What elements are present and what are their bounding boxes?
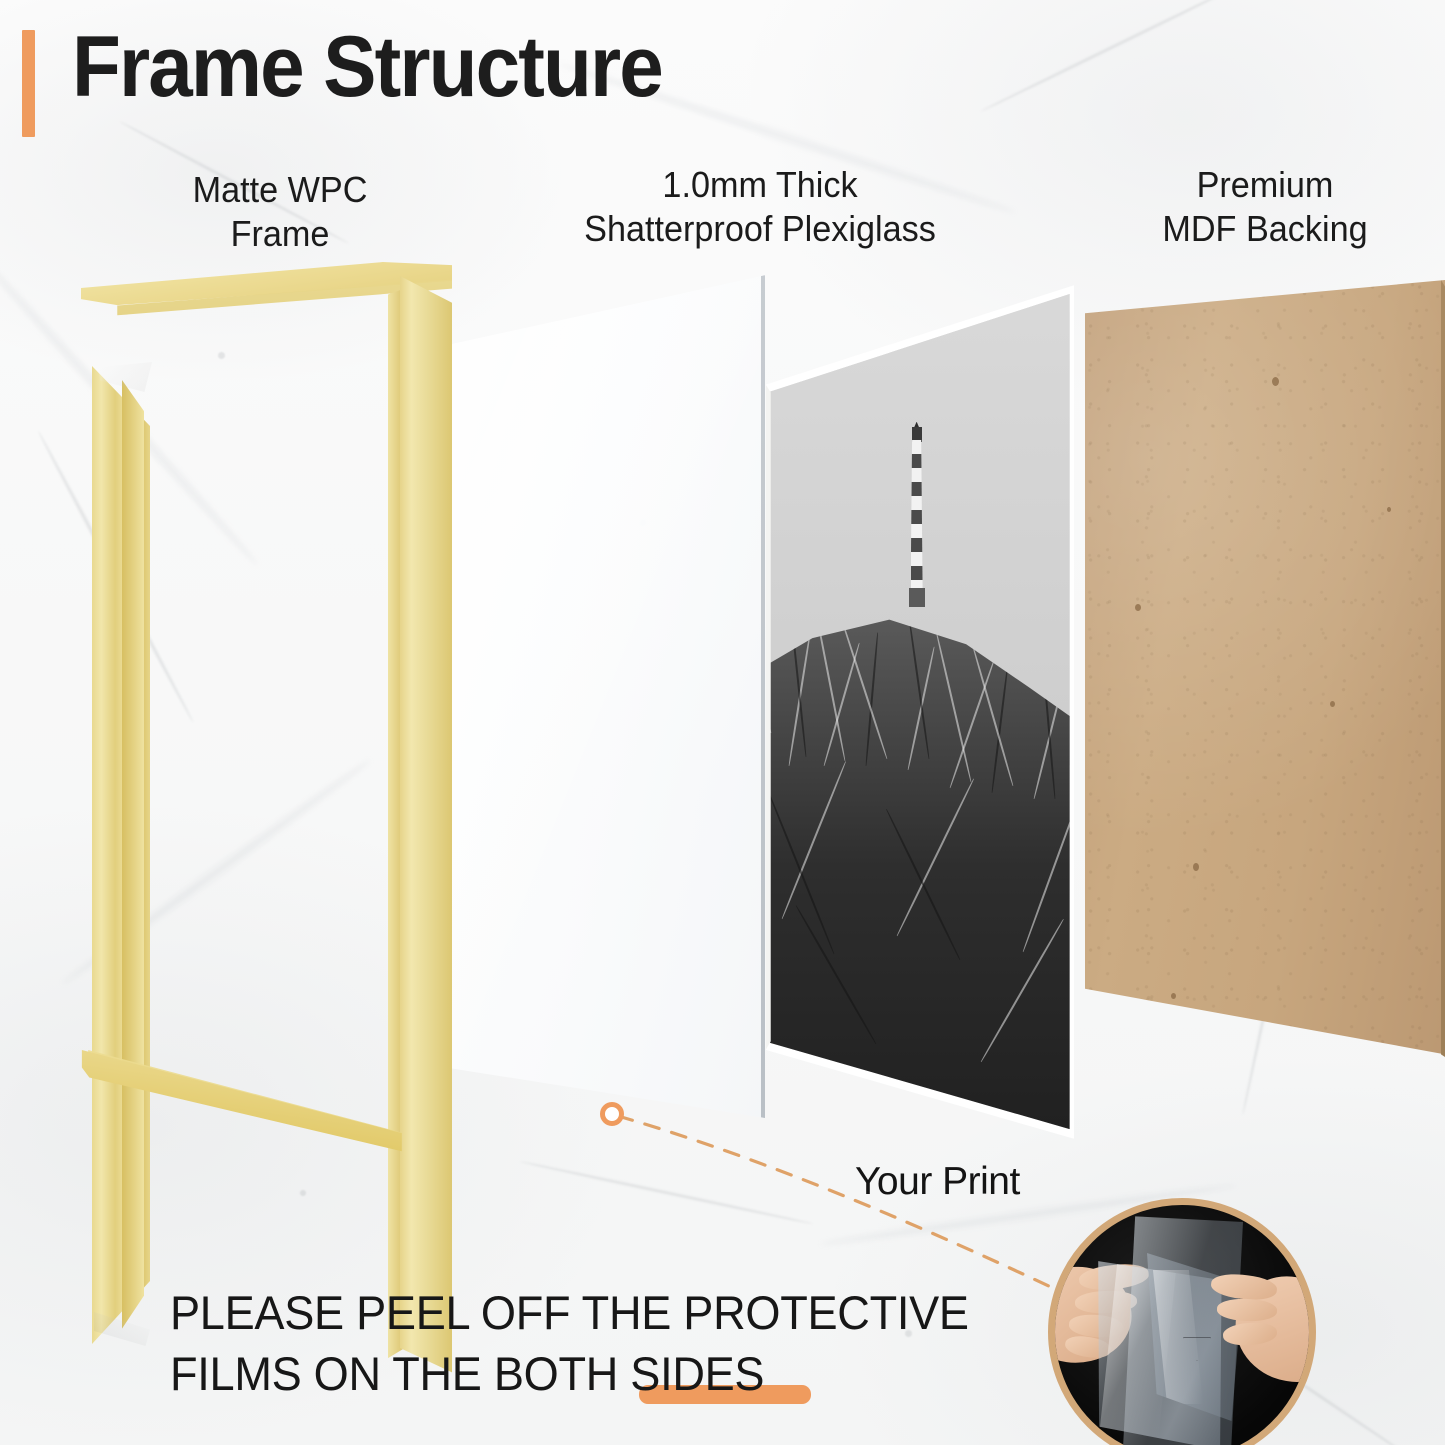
photo-print-icon [762,272,1074,1152]
label-your-print: Your Print [855,1160,1020,1204]
page-title: Frame Structure [72,24,662,110]
plexiglass-edge [761,268,765,1158]
callout-marker-icon [600,1102,624,1126]
label-matte-wpc-frame: Matte WPC Frame [114,168,447,256]
label-shatterproof-plexiglass: 1.0mm Thick Shatterproof Plexiglass [466,163,1055,251]
footer-instruction-text: PLEASE PEEL OFF THE PROTECTIVE FILMS ON … [170,1282,1015,1404]
plexiglass-sheet-icon [433,268,765,1158]
lighthouse-dune-photograph [762,272,1074,1152]
title-accent-bar [22,30,35,137]
frame-rail-right [400,276,452,1388]
plexiglass-sheen [433,268,765,1158]
mdf-edge [1441,280,1445,1090]
label-premium-mdf-backing: Premium MDF Backing [1099,163,1432,251]
lighthouse [909,422,925,607]
frame-rail-left-inner [122,380,144,1352]
mdf-grain-texture [1085,280,1445,1090]
infographic-canvas: Frame Structure Matte WPC Frame 1.0mm Th… [0,0,1445,1445]
frame-icon [70,262,452,1162]
mdf-board-icon [1085,280,1445,1090]
peel-protective-film-photo [1048,1198,1316,1445]
